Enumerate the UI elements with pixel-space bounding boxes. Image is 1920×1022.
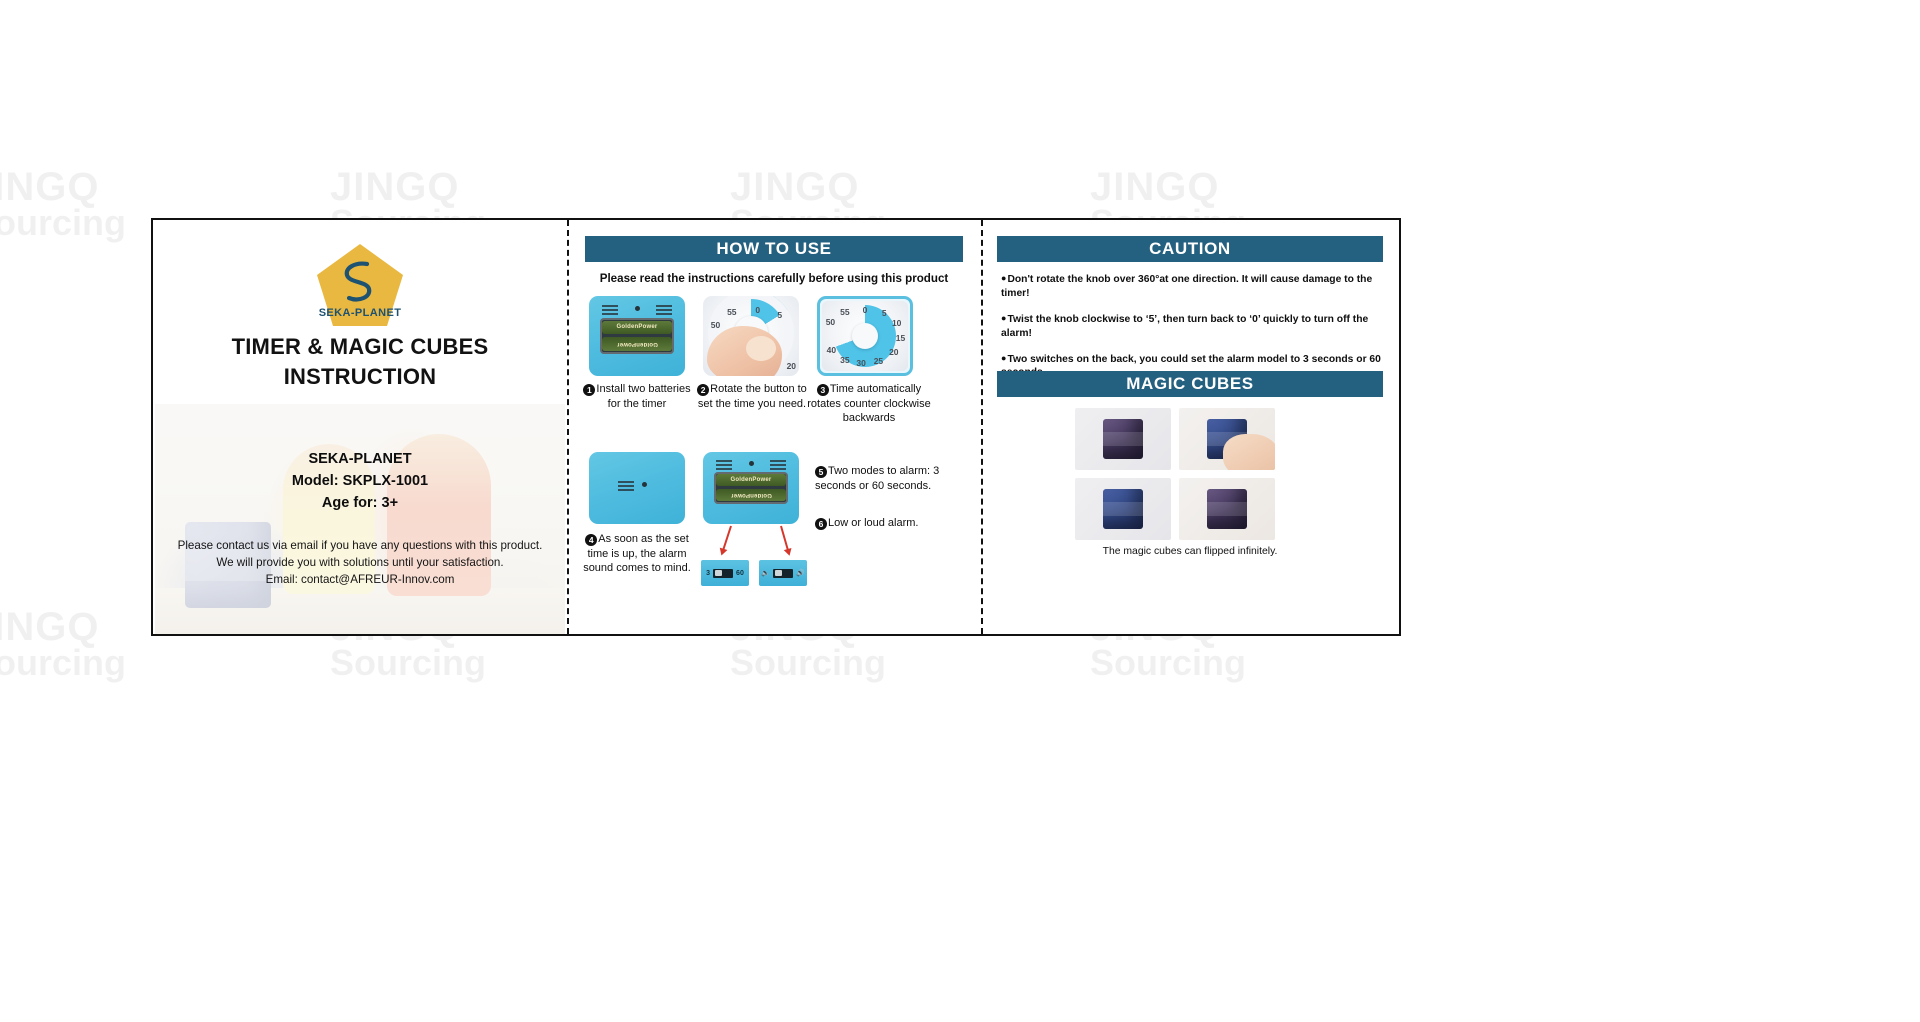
caution-bullet: ●Don't rotate the knob over 360°at one d…	[1001, 272, 1383, 301]
dial-tick-label: 55	[840, 307, 849, 317]
switch-duration-chip: 3 60	[701, 560, 749, 586]
sensor-dot-icon	[749, 461, 754, 466]
how-to-use-banner: HOW TO USE	[585, 236, 963, 262]
cube-photo	[1075, 478, 1171, 540]
cube-photo	[1179, 478, 1275, 540]
switch-volume-chip: 🔈 🔊	[759, 560, 807, 586]
dial-tick-label: 5	[882, 308, 887, 318]
dial-tick-label: 50	[711, 320, 720, 330]
speaker-loud-icon: 🔊	[796, 569, 805, 577]
magic-cubes-banner: MAGIC CUBES	[997, 371, 1383, 397]
callout-arrow	[780, 526, 789, 552]
hand-illustration	[707, 326, 782, 376]
step-number: 4	[585, 534, 597, 546]
switch-label-60s: 60	[736, 570, 744, 577]
magic-cubes-gallery	[1075, 408, 1275, 540]
speaker-vent-icon	[618, 481, 634, 492]
dial-tick-label: 50	[826, 317, 835, 327]
watermark-bottom: Sourcing	[1090, 646, 1246, 680]
dial-tick-label: 55	[727, 307, 736, 317]
sensor-dot-icon	[635, 306, 640, 311]
step-text: As soon as the set time is up, the alarm…	[583, 533, 691, 574]
contact-line-1: Please contact us via email if you have …	[167, 538, 553, 555]
title-line-2: INSTRUCTION	[171, 362, 549, 392]
battery-compartment: GoldenPower GoldenPower	[600, 318, 675, 353]
how-to-use-panel: HOW TO USE Please read the instructions …	[567, 220, 981, 634]
step-text: Two modes to alarm: 3 seconds or 60 seco…	[815, 465, 939, 492]
bullet-dot-icon: ●	[1001, 273, 1006, 283]
contact-block: Please contact us via email if you have …	[167, 538, 553, 588]
watermark-top: JINGQ	[0, 168, 126, 206]
battery-cell: GoldenPower	[602, 321, 672, 334]
brand-logo: SEKA-PLANET	[315, 242, 405, 328]
dial-tick-label: 0	[863, 305, 868, 315]
speaker-low-icon: 🔈	[761, 569, 770, 577]
battery-cell: GoldenPower	[716, 489, 786, 501]
magic-cube-icon	[1103, 419, 1143, 459]
battery-brand-label: GoldenPower	[617, 341, 658, 347]
cube-photo	[1179, 408, 1275, 470]
hand-illustration	[1223, 434, 1275, 470]
how-to-use-intro: Please read the instructions carefully b…	[575, 272, 973, 285]
callout-arrow	[722, 526, 732, 551]
bullet-dot-icon: ●	[1001, 353, 1006, 363]
step-3-caption: 3Time automatically rotates counter cloc…	[807, 382, 931, 426]
watermark-bottom: Sourcing	[330, 646, 486, 680]
contact-line-2: We will provide you with solutions until…	[167, 555, 553, 572]
dial-tick-label: 20	[787, 361, 796, 371]
magic-cubes-caption: The magic cubes can flipped infinitely.	[997, 546, 1383, 557]
dial-tick-label: 5	[777, 310, 782, 320]
brand-name: SEKA-PLANET	[171, 448, 549, 470]
step-text: Rotate the button to set the time you ne…	[698, 383, 807, 410]
timer-dial-hub	[852, 323, 878, 349]
battery-brand-label: GoldenPower	[731, 492, 772, 498]
step-6-caption: 6Low or loud alarm.	[815, 516, 967, 531]
speaker-vent-icon	[770, 460, 786, 471]
speaker-vent-icon	[716, 460, 732, 471]
svg-text:SEKA-PLANET: SEKA-PLANET	[319, 307, 402, 319]
caution-bullet-text: Don't rotate the knob over 360°at one di…	[1001, 274, 1372, 299]
caution-banner: CAUTION	[997, 236, 1383, 262]
step-number: 1	[583, 384, 595, 396]
step-text: Install two batteries for the timer	[596, 383, 690, 410]
watermark-top: JINGQ	[1090, 168, 1246, 206]
page-root: JINGQ Sourcing JINGQ Sourcing JINGQ Sour…	[0, 0, 1920, 1022]
title-line-1: TIMER & MAGIC CUBES	[171, 332, 549, 362]
step-number: 6	[815, 518, 827, 530]
step-4-image	[589, 452, 685, 524]
magic-cube-icon	[1207, 489, 1247, 529]
instruction-leaflet: SEKA-PLANET TIMER & MAGIC CUBES INSTRUCT…	[151, 218, 1401, 636]
battery-cell: GoldenPower	[602, 337, 672, 350]
dial-tick-label: 15	[896, 333, 905, 343]
step-3-image: 0 5 10 15 20 25 30 35 40 50 55	[817, 296, 913, 376]
watermark-top: JINGQ	[0, 608, 126, 646]
page-title: TIMER & MAGIC CUBES INSTRUCTION	[171, 332, 549, 393]
contact-email: Email: contact@AFREUR-Innov.com	[167, 572, 553, 589]
step-1-image: GoldenPower GoldenPower	[589, 296, 685, 376]
speaker-vent-icon	[602, 305, 618, 316]
step-2-image: 55 50 0 5 20	[703, 296, 799, 376]
step-number: 2	[697, 384, 709, 396]
magic-cube-icon	[1103, 489, 1143, 529]
battery-cell: GoldenPower	[716, 474, 786, 486]
step-2-caption: 2Rotate the button to set the time you n…	[693, 382, 811, 411]
switch-slider-icon	[713, 569, 733, 578]
watermark: JINGQ Sourcing	[0, 608, 126, 680]
age-rating: Age for: 3+	[171, 492, 549, 514]
caution-panel: CAUTION ●Don't rotate the knob over 360°…	[981, 220, 1399, 634]
watermark-bottom: Sourcing	[0, 206, 126, 240]
model-number: Model: SKPLX-1001	[171, 470, 549, 492]
switch-slider-icon	[773, 569, 793, 578]
sensor-dot-icon	[642, 482, 647, 487]
battery-brand-label: GoldenPower	[617, 324, 658, 330]
dial-tick-label: 40	[827, 345, 836, 355]
dial-tick-label: 10	[892, 318, 901, 328]
cover-photo	[155, 404, 565, 634]
caution-bullet-text: Twist the knob clockwise to ‘5’, then tu…	[1001, 314, 1368, 339]
watermark: JINGQ Sourcing	[0, 168, 126, 240]
thumb-illustration	[746, 336, 776, 361]
watermark-bottom: Sourcing	[0, 646, 126, 680]
battery-compartment: GoldenPower GoldenPower	[714, 472, 789, 504]
watermark-bottom: Sourcing	[730, 646, 886, 680]
dial-tick-label: 25	[874, 356, 883, 366]
dial-tick-label: 0	[755, 305, 760, 315]
dial-tick-label: 35	[840, 355, 849, 365]
watermark-top: JINGQ	[330, 168, 486, 206]
caution-bullet: ●Twist the knob clockwise to ‘5’, then t…	[1001, 312, 1383, 341]
step-number: 3	[817, 384, 829, 396]
dial-tick-label: 30	[856, 358, 865, 368]
bullet-dot-icon: ●	[1001, 313, 1006, 323]
speaker-vent-icon	[656, 305, 672, 316]
switch-label-3s: 3	[706, 570, 710, 577]
step-1-caption: 1Install two batteries for the timer	[579, 382, 695, 411]
step-4-caption: 4As soon as the set time is up, the alar…	[577, 532, 697, 576]
watermark-top: JINGQ	[730, 168, 886, 206]
step-number: 5	[815, 466, 827, 478]
step-6-image: GoldenPower GoldenPower	[703, 452, 799, 524]
product-info: SEKA-PLANET Model: SKPLX-1001 Age for: 3…	[171, 448, 549, 514]
cube-photo	[1075, 408, 1171, 470]
cover-panel: SEKA-PLANET TIMER & MAGIC CUBES INSTRUCT…	[153, 220, 567, 634]
step-text: Low or loud alarm.	[828, 517, 919, 529]
step-5-caption: 5Two modes to alarm: 3 seconds or 60 sec…	[815, 464, 967, 493]
dial-tick-label: 20	[889, 347, 898, 357]
battery-brand-label: GoldenPower	[731, 477, 772, 483]
